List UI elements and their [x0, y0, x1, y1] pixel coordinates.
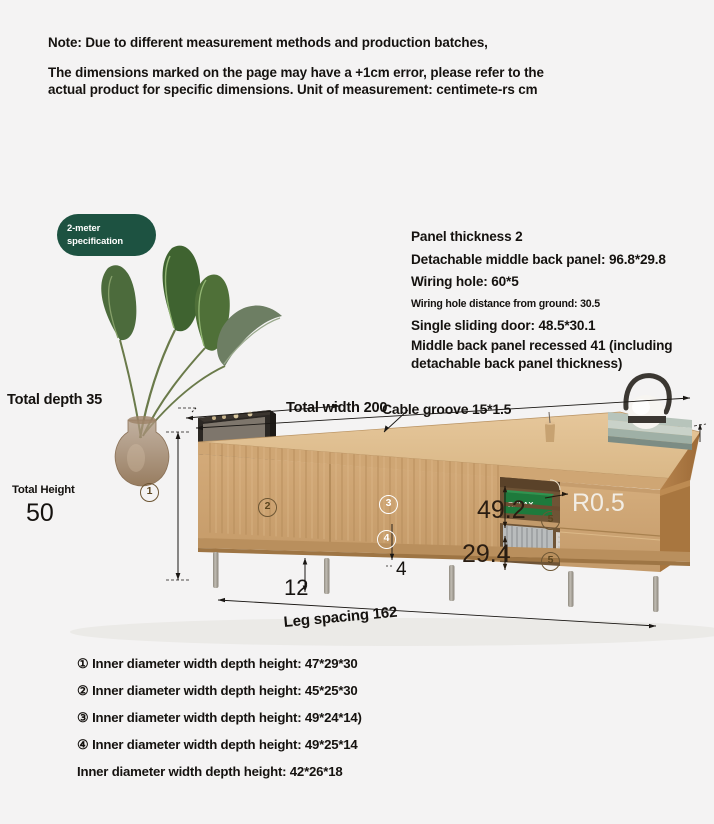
- list-item: ① Inner diameter width depth height: 47*…: [77, 650, 497, 677]
- total-width-label: Total width 200: [286, 399, 382, 417]
- cable-groove-label: Cable groove 15*1.5: [382, 401, 511, 417]
- callout-marker-2: 2: [258, 498, 277, 517]
- list-item: ③ Inner diameter width depth height: 49*…: [77, 704, 497, 731]
- list-item: ② Inner diameter width depth height: 45*…: [77, 677, 497, 704]
- leg-height-value: 12: [284, 575, 308, 601]
- corner-radius-label: R0.5: [572, 489, 625, 518]
- list-item: ④ Inner diameter width depth height: 49*…: [77, 731, 497, 758]
- shelf-thickness-value: 4: [396, 559, 407, 581]
- inner-dimension-list: ① Inner diameter width depth height: 47*…: [77, 650, 497, 785]
- total-height-label: Total Height: [12, 484, 75, 496]
- callout-marker-1: 1: [140, 483, 159, 502]
- measurement-note: Note: Due to different measurement metho…: [48, 34, 578, 99]
- product-spec-diagram: Note: Due to different measurement metho…: [0, 0, 714, 824]
- drawer-top-width-value: 49.2: [477, 496, 526, 525]
- callout-marker-5-top: 5: [541, 511, 560, 530]
- callout-marker-3: 3: [379, 495, 398, 514]
- furniture-illustration: Marshall: [0, 180, 714, 660]
- note-paragraph-1: Note: Due to different measurement metho…: [48, 34, 578, 52]
- callout-marker-5-bottom: 5: [541, 552, 560, 571]
- total-depth-label: Total depth 35: [7, 392, 102, 408]
- list-item: Inner diameter width depth height: 42*26…: [77, 758, 497, 785]
- callout-marker-4: 4: [377, 530, 396, 549]
- total-height-value: 50: [26, 499, 54, 528]
- drawer-bottom-width-value: 29.4: [462, 540, 511, 569]
- note-paragraph-2: The dimensions marked on the page may ha…: [48, 64, 578, 99]
- floor-shadow: [70, 618, 714, 646]
